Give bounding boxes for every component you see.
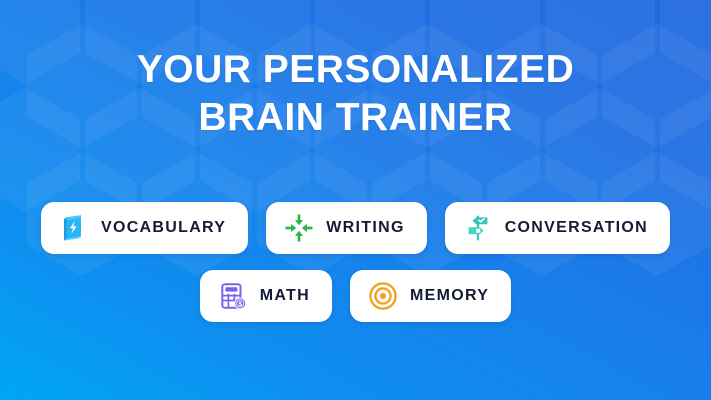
book-lightning-icon <box>59 213 89 243</box>
category-label: MATH <box>260 287 310 305</box>
category-pill-vocabulary[interactable]: VOCABULARY <box>41 202 248 254</box>
headline-line-2: BRAIN TRAINER <box>0 94 711 142</box>
converge-arrows-icon <box>284 213 314 243</box>
category-label: VOCABULARY <box>101 219 226 237</box>
category-label: CONVERSATION <box>505 219 648 237</box>
category-row-2: $ MATH MEMORY <box>0 270 711 322</box>
calculator-coin-icon: $ <box>218 281 248 311</box>
promo-banner: YOUR PERSONALIZED BRAIN TRAINER VOCABULA… <box>0 0 711 400</box>
category-pill-writing[interactable]: WRITING <box>266 202 426 254</box>
category-pill-memory[interactable]: MEMORY <box>350 270 511 322</box>
headline-line-1: YOUR PERSONALIZED <box>0 46 711 94</box>
target-icon <box>368 281 398 311</box>
svg-text:$: $ <box>238 301 242 308</box>
category-label: WRITING <box>326 219 404 237</box>
category-label: MEMORY <box>410 287 489 305</box>
category-row-1: VOCABULARY <box>0 202 711 254</box>
signpost-icon <box>463 213 493 243</box>
category-pill-math[interactable]: $ MATH <box>200 270 332 322</box>
category-pill-conversation[interactable]: CONVERSATION <box>445 202 670 254</box>
page-title: YOUR PERSONALIZED BRAIN TRAINER <box>0 46 711 142</box>
category-pill-list: VOCABULARY <box>0 202 711 322</box>
